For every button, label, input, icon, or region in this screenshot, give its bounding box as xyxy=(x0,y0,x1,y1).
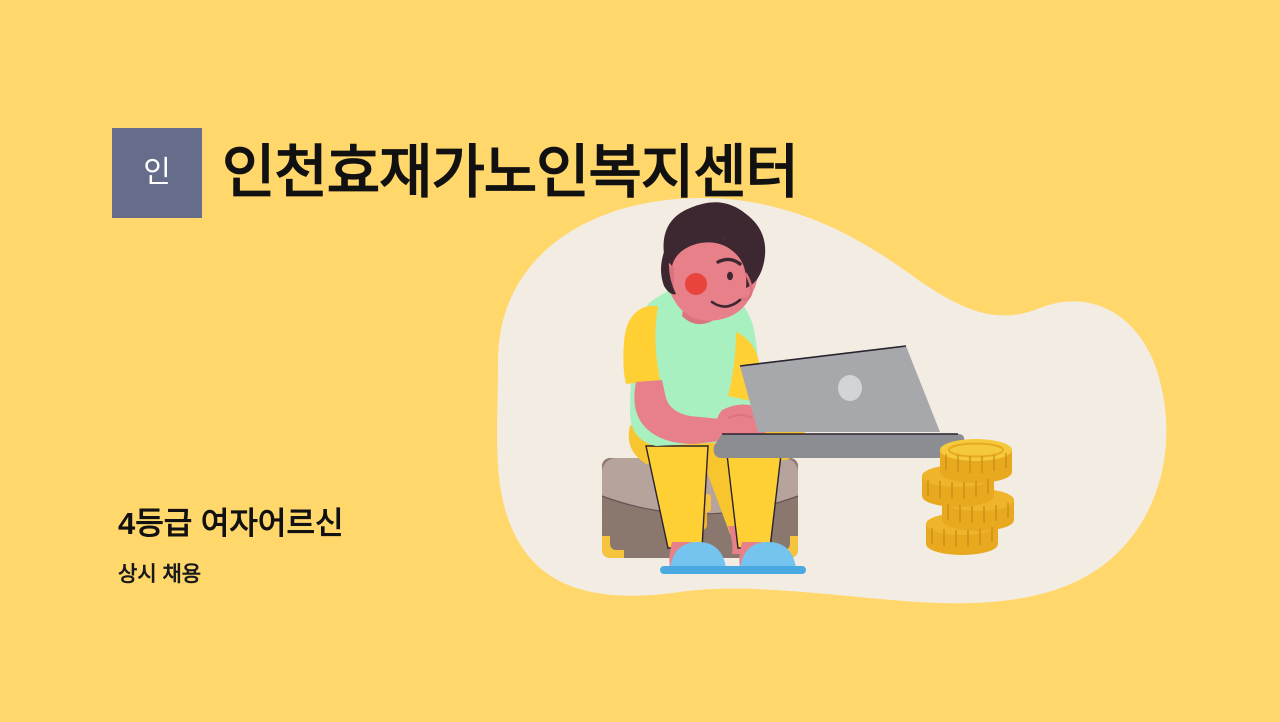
header-row: 인 인천효재가노인복지센터 xyxy=(112,128,798,218)
brand-badge: 인 xyxy=(112,128,202,218)
illustration-container xyxy=(440,196,1180,626)
brand-badge-label: 인 xyxy=(143,158,171,188)
poster-canvas: 인 인천효재가노인복지센터 4등급 여자어르신 상시 채용 xyxy=(0,0,1280,722)
job-status-label: 상시 채용 xyxy=(118,562,344,587)
job-info-block: 4등급 여자어르신 상시 채용 xyxy=(118,505,344,587)
job-title: 4등급 여자어르신 xyxy=(118,505,344,542)
organization-title: 인천효재가노인복지센터 xyxy=(222,144,798,202)
